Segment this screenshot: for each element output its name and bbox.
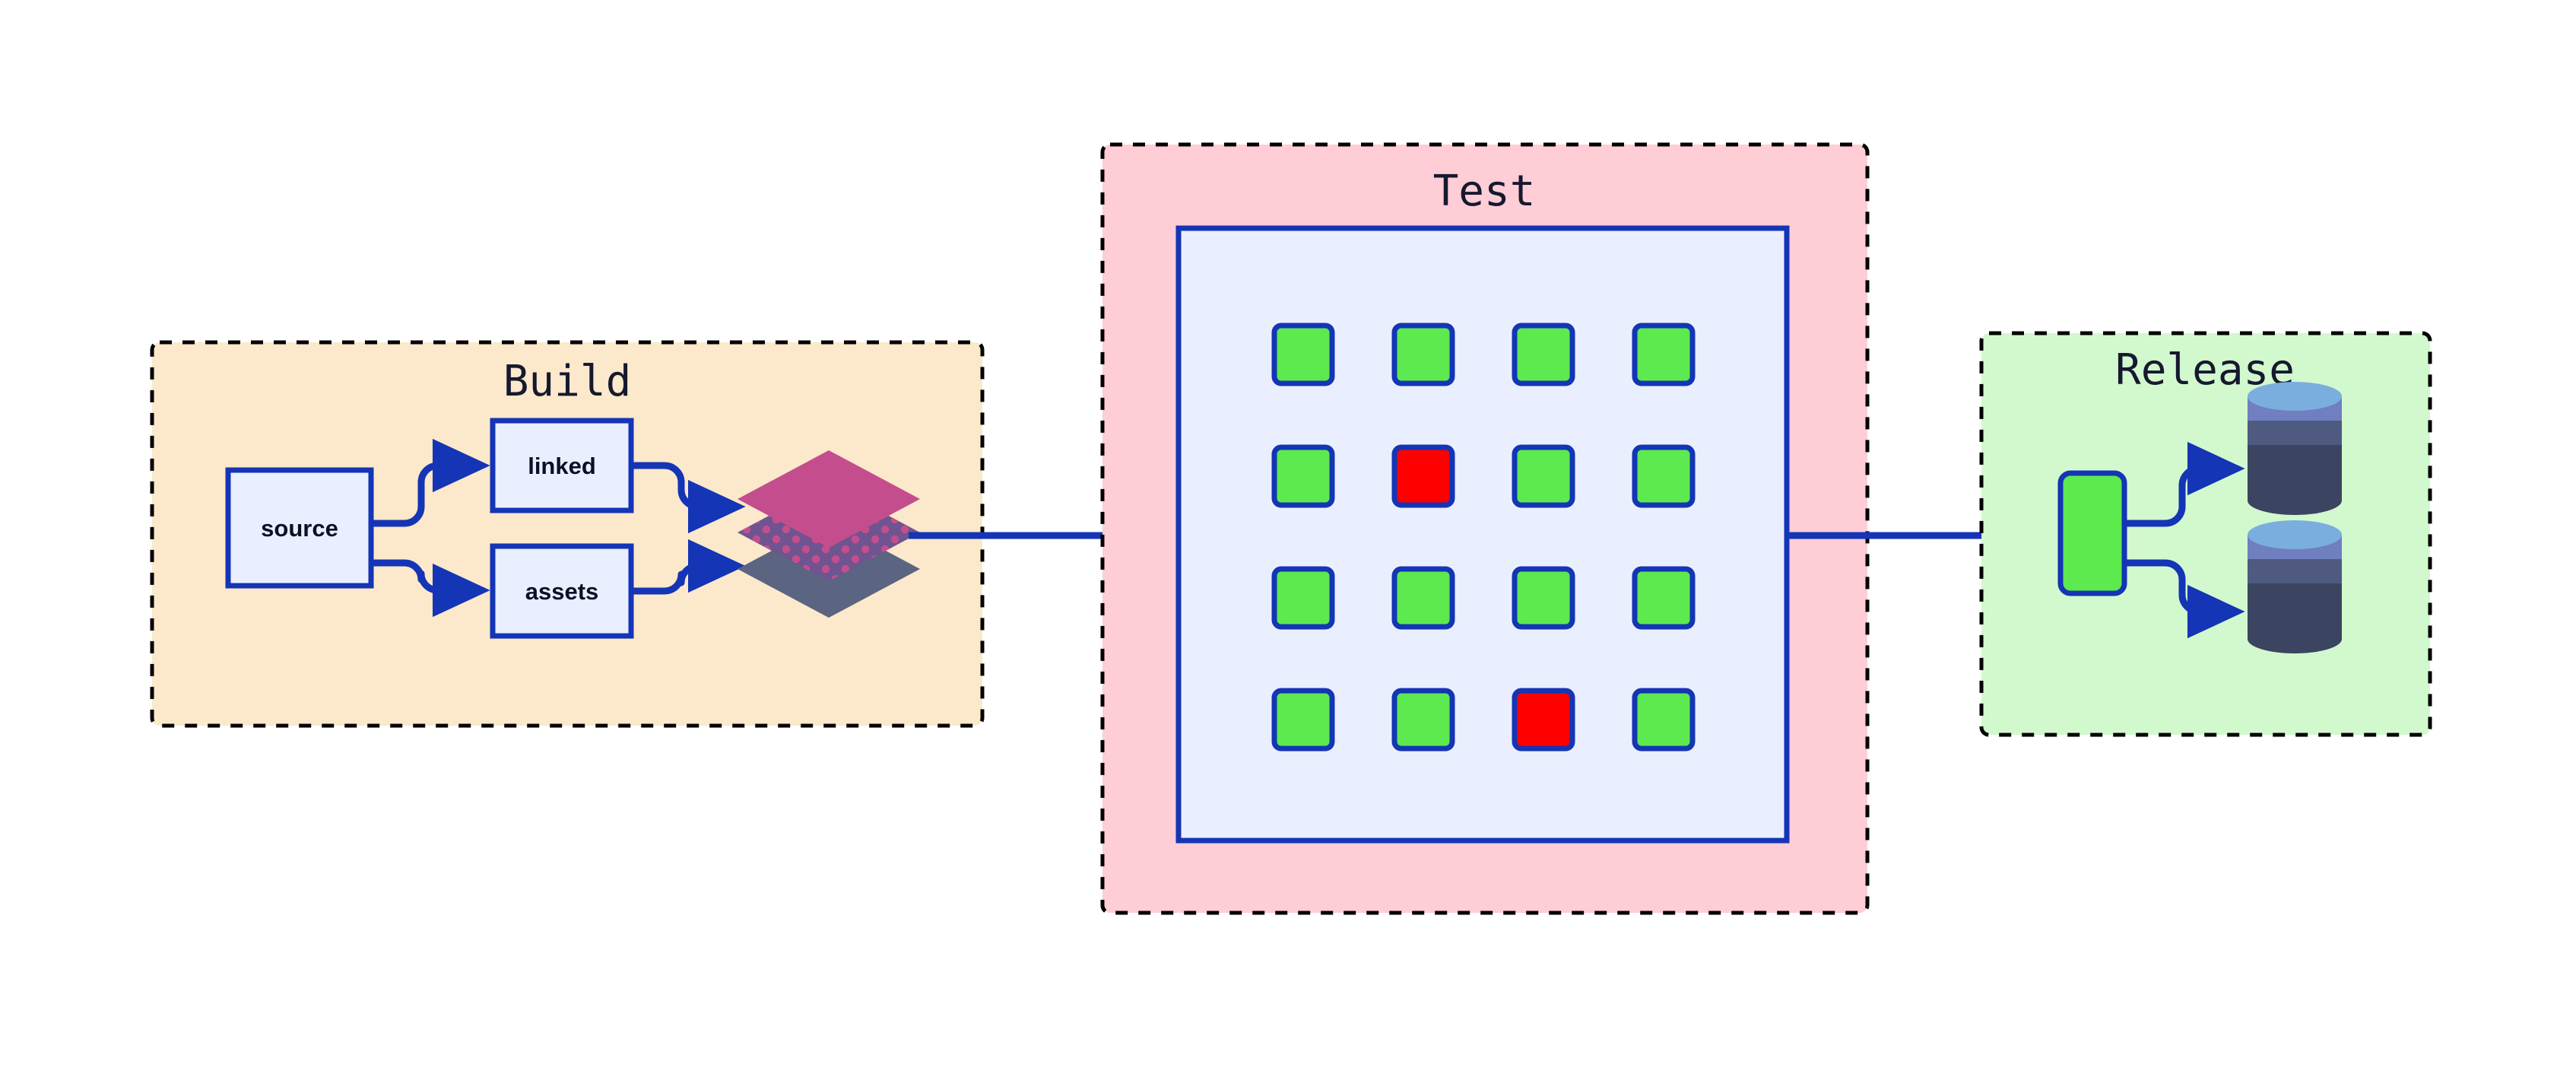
node-assets[interactable]: assets xyxy=(493,546,631,636)
db-body-mid xyxy=(2248,559,2342,583)
db-top-ellipse xyxy=(2248,382,2342,411)
test-cell-pass[interactable] xyxy=(1394,326,1452,383)
database-primary-icon[interactable] xyxy=(2248,382,2342,515)
test-results-panel xyxy=(1179,228,1787,841)
test-cell-pass[interactable] xyxy=(1394,691,1452,749)
section-release: Release xyxy=(1981,333,2430,735)
test-cell-pass[interactable] xyxy=(1635,691,1692,749)
db-body-mid xyxy=(2248,421,2342,445)
test-cell-pass[interactable] xyxy=(1635,326,1692,383)
db-top-ellipse xyxy=(2248,520,2342,549)
test-cell-fail[interactable] xyxy=(1515,691,1572,749)
test-cell-pass[interactable] xyxy=(1515,326,1572,383)
test-title: Test xyxy=(1433,167,1536,216)
pipeline-diagram: Build source linked assets xyxy=(0,0,2576,1068)
test-cell-pass[interactable] xyxy=(1515,447,1572,505)
diagram-canvas: Build source linked assets xyxy=(0,0,2576,1068)
test-cell-pass[interactable] xyxy=(1515,569,1572,627)
database-replica-icon[interactable] xyxy=(2248,520,2342,653)
db-body-dark xyxy=(2248,583,2342,653)
test-cell-pass[interactable] xyxy=(1274,447,1332,505)
release-deploy-box[interactable] xyxy=(2060,473,2124,593)
test-cell-pass[interactable] xyxy=(1274,326,1332,383)
test-cell-pass[interactable] xyxy=(1274,691,1332,749)
section-test: Test xyxy=(1102,145,1867,913)
db-body-dark xyxy=(2248,445,2342,515)
build-title: Build xyxy=(503,357,632,406)
section-build: Build source linked assets xyxy=(152,342,982,726)
test-cell-pass[interactable] xyxy=(1635,569,1692,627)
node-assets-label: assets xyxy=(525,578,599,605)
test-cell-pass[interactable] xyxy=(1274,569,1332,627)
node-linked-label: linked xyxy=(528,453,596,479)
test-cell-pass[interactable] xyxy=(1394,569,1452,627)
node-source[interactable]: source xyxy=(228,470,371,586)
test-cell-fail[interactable] xyxy=(1394,447,1452,505)
node-linked[interactable]: linked xyxy=(493,421,631,510)
node-source-label: source xyxy=(261,515,338,542)
test-cell-pass[interactable] xyxy=(1635,447,1692,505)
